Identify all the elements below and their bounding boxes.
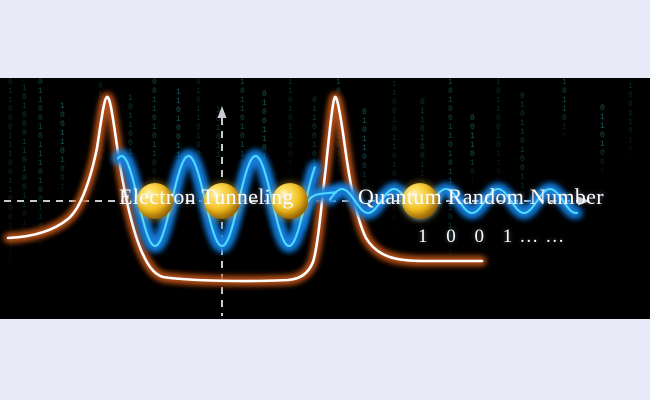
random-bit-string: 1 0 0 1…… [418,226,571,248]
caption-quantum-random-number: Quantum Random Number [358,184,604,210]
illustration-stage: 0 1 1 0 0 0 1 1 1 0 0 1 1 0 0 0 1 0 1 1 … [0,0,650,400]
caption-electron-tunneling: Electron Tunneling [119,184,294,210]
illustration-panel: 0 1 1 0 0 0 1 1 1 0 0 1 1 0 0 0 1 0 1 1 … [0,78,650,319]
y-axis-arrowhead [218,106,227,118]
